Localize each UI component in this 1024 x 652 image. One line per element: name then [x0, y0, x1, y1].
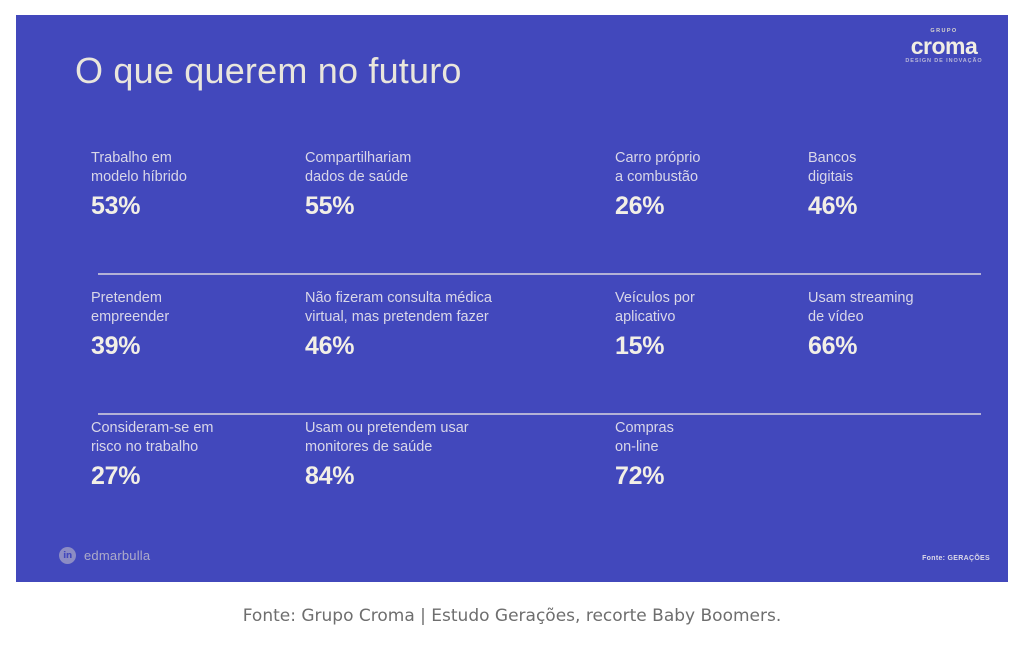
row-divider — [98, 413, 981, 415]
stat-item: Bancos digitais 46% — [808, 149, 857, 220]
author-handle: edmarbulla — [84, 548, 150, 563]
stat-value: 39% — [91, 333, 169, 361]
stat-row: Trabalho em modelo híbrido 53% Compartil… — [91, 149, 981, 249]
stat-item: Usam ou pretendem usar monitores de saúd… — [305, 419, 469, 490]
brand-logo: GRUPO croma DESIGN DE INOVAÇÃO — [892, 29, 996, 65]
page-title: O que querem no futuro — [75, 50, 462, 92]
stat-item: Veículos por aplicativo 15% — [615, 289, 695, 360]
stat-item: Consideram-se em risco no trabalho 27% — [91, 419, 214, 490]
brand-croma-wordmark: croma — [892, 36, 996, 58]
linkedin-icon: in — [59, 547, 76, 564]
stat-value: 84% — [305, 463, 469, 491]
stat-label: Bancos digitais — [808, 149, 857, 188]
stat-item: Trabalho em modelo híbrido 53% — [91, 149, 187, 220]
brand-tagline: DESIGN DE INOVAÇÃO — [892, 59, 996, 65]
stat-label: Carro próprio a combustão — [615, 149, 700, 188]
stat-item: Carro próprio a combustão 26% — [615, 149, 700, 220]
stat-label: Pretendem empreender — [91, 289, 169, 328]
infographic-card: O que querem no futuro GRUPO croma DESIG… — [16, 15, 1008, 582]
stat-label: Trabalho em modelo híbrido — [91, 149, 187, 188]
stat-label: Usam ou pretendem usar monitores de saúd… — [305, 419, 469, 458]
stat-label: Usam streaming de vídeo — [808, 289, 914, 328]
stat-label: Compartilhariam dados de saúde — [305, 149, 411, 188]
stat-row: Consideram-se em risco no trabalho 27% U… — [91, 419, 981, 519]
row-divider — [98, 273, 981, 275]
stat-value: 72% — [615, 463, 674, 491]
stat-label: Veículos por aplicativo — [615, 289, 695, 328]
stat-label: Não fizeram consulta médica virtual, mas… — [305, 289, 492, 328]
source-note: Fonte: GERAÇÕES — [922, 555, 990, 562]
stat-item: Pretendem empreender 39% — [91, 289, 169, 360]
stat-value: 46% — [808, 193, 857, 221]
stat-item: Compartilhariam dados de saúde 55% — [305, 149, 411, 220]
stat-label: Consideram-se em risco no trabalho — [91, 419, 214, 458]
stat-label: Compras on-line — [615, 419, 674, 458]
author-credit: in edmarbulla — [59, 547, 150, 564]
stat-value: 46% — [305, 333, 492, 361]
stat-value: 55% — [305, 193, 411, 221]
stat-value: 15% — [615, 333, 695, 361]
stat-row: Pretendem empreender 39% Não fizeram con… — [91, 289, 981, 389]
stat-value: 27% — [91, 463, 214, 491]
stat-value: 53% — [91, 193, 187, 221]
stat-item: Não fizeram consulta médica virtual, mas… — [305, 289, 492, 360]
stat-item: Usam streaming de vídeo 66% — [808, 289, 914, 360]
stat-value: 26% — [615, 193, 700, 221]
stat-value: 66% — [808, 333, 914, 361]
figure-caption: Fonte: Grupo Croma | Estudo Gerações, re… — [0, 606, 1024, 626]
stat-item: Compras on-line 72% — [615, 419, 674, 490]
